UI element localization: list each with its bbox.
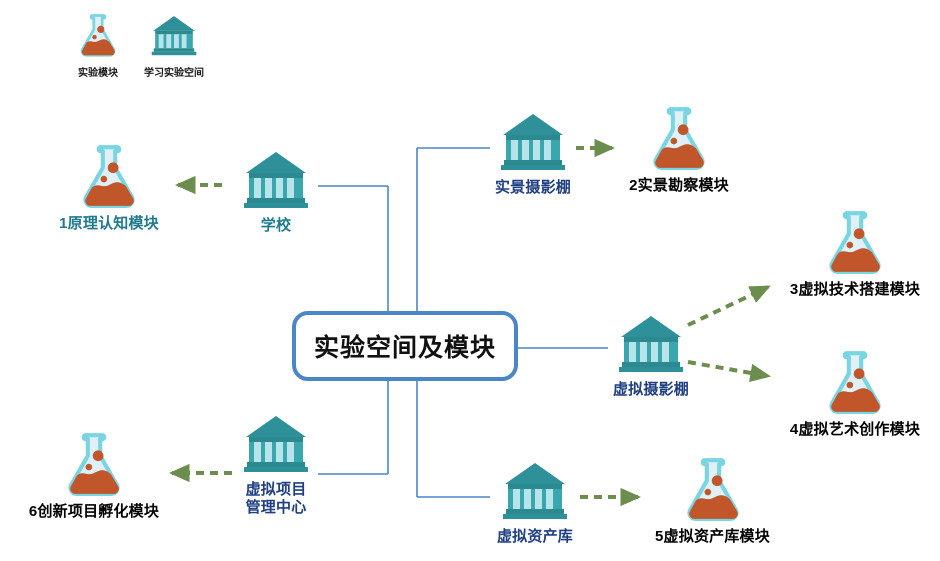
- node-label: 实景摄影棚: [495, 179, 571, 197]
- node-label: 虚拟资产库: [497, 528, 573, 546]
- node-virtual-project-center[interactable]: 虚拟项目 管理中心: [237, 410, 315, 518]
- flask-icon: [824, 348, 886, 416]
- legend-label: 学习实验空间: [144, 64, 204, 79]
- arrow-virtual-studio-to-module-4: [688, 362, 768, 376]
- node-module-6[interactable]: 6创新项目孵化模块: [14, 430, 174, 521]
- building-icon: [618, 310, 684, 376]
- node-label: 虚拟项目 管理中心: [246, 481, 307, 518]
- flask-icon: [824, 208, 886, 276]
- node-module-3[interactable]: 3虚拟技术搭建模块: [775, 208, 935, 299]
- legend-label: 实验模块: [78, 64, 118, 79]
- center-node-label: 实验空间及模块: [314, 328, 496, 364]
- center-node-experiment-space[interactable]: 实验空间及模块: [292, 311, 518, 381]
- legend-item-module: 实验模块: [77, 12, 119, 79]
- node-label: 6创新项目孵化模块: [29, 503, 159, 521]
- node-label: 学校: [261, 217, 291, 235]
- node-label: 4虚拟艺术创作模块: [790, 421, 920, 439]
- flask-icon: [648, 104, 710, 172]
- node-module-2[interactable]: 2实景勘察模块: [615, 104, 743, 195]
- flask-icon: [682, 455, 744, 523]
- node-virtual-asset-library[interactable]: 虚拟资产库: [492, 457, 578, 546]
- node-label: 1原理认知模块: [59, 215, 159, 233]
- flask-icon: [77, 12, 119, 58]
- node-school[interactable]: 学校: [240, 146, 312, 235]
- node-virtual-studio[interactable]: 虚拟摄影棚: [608, 310, 694, 399]
- flask-icon: [63, 430, 125, 498]
- arrow-virtual-studio-to-module-3: [688, 287, 768, 325]
- flask-icon: [78, 142, 140, 210]
- node-module-5[interactable]: 5虚拟资产库模块: [640, 455, 785, 546]
- node-module-1[interactable]: 1原理认知模块: [45, 142, 173, 233]
- node-module-4[interactable]: 4虚拟艺术创作模块: [775, 348, 935, 439]
- node-real-studio[interactable]: 实景摄影棚: [490, 108, 576, 197]
- node-label: 5虚拟资产库模块: [655, 528, 770, 546]
- building-icon: [151, 12, 197, 58]
- diagram-canvas: 实验模块 学习实验空间 实验空间及模块: [0, 0, 940, 561]
- building-icon: [502, 457, 568, 523]
- building-icon: [500, 108, 566, 174]
- building-icon: [243, 146, 309, 212]
- building-icon: [243, 410, 309, 476]
- node-label: 虚拟摄影棚: [613, 381, 689, 399]
- legend-item-space: 学习实验空间: [144, 12, 204, 79]
- node-label: 2实景勘察模块: [629, 177, 729, 195]
- node-label: 3虚拟技术搭建模块: [790, 281, 920, 299]
